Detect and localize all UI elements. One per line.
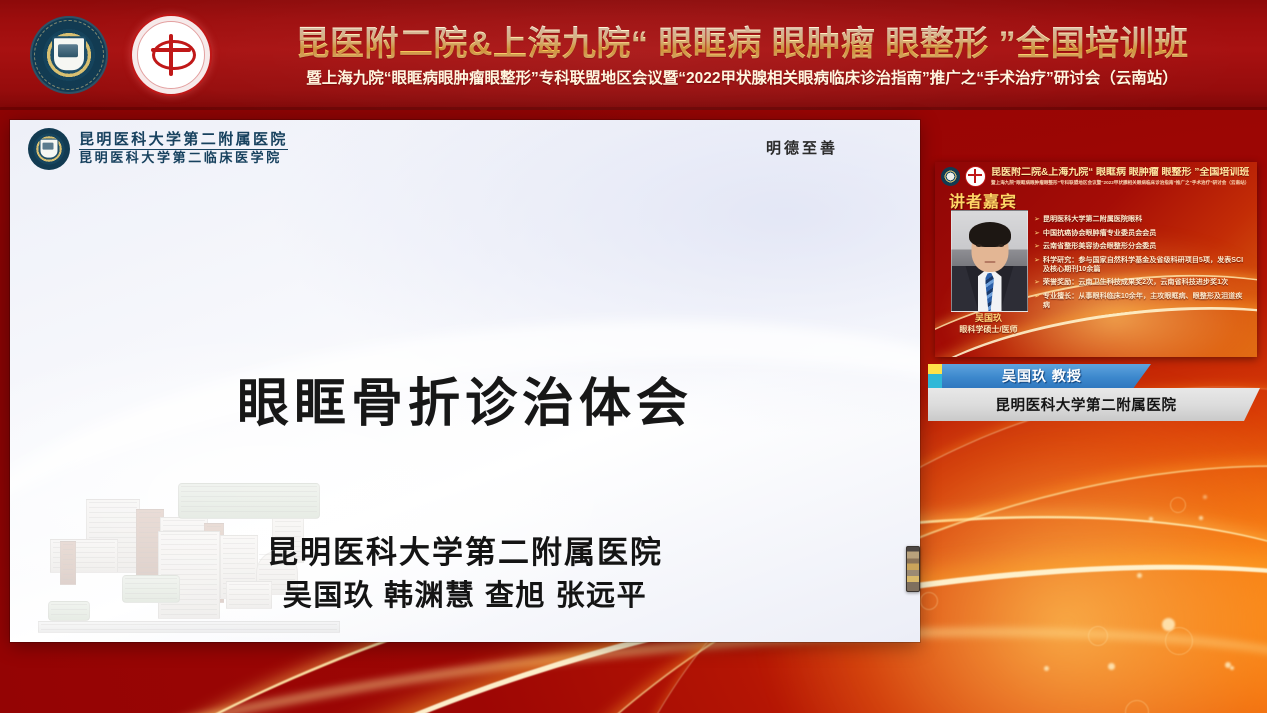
emblem-cross-vertical bbox=[169, 34, 173, 76]
slide-viewport[interactable]: 昆明医科大学第二附属医院 昆明医科大学第二临床医学院 明德至善 眼眶骨折诊治体会… bbox=[10, 120, 920, 642]
emblem-cross-horizontal bbox=[151, 48, 191, 52]
emblem-shield bbox=[52, 36, 86, 72]
university-crest-icon bbox=[28, 128, 70, 170]
list-item: ➢ 荣誉奖励：云南卫生科技成果奖2次，云南省科技进步奖1次 bbox=[1034, 278, 1249, 288]
header-subtitle: 暨上海九院“眼眶病眼肿瘤眼整形”专科联盟地区会议暨“2022甲状腺相关眼病临床诊… bbox=[232, 66, 1252, 92]
bullet-arrow-icon: ➢ bbox=[1034, 242, 1040, 252]
credential-text: 中国抗癌协会眼肿瘤专业委员会会员 bbox=[1043, 229, 1157, 239]
university-name-line2: 昆明医科大学第二临床医学院 bbox=[79, 151, 288, 167]
list-item: ➢ 中国抗癌协会眼肿瘤专业委员会会员 bbox=[1034, 229, 1249, 239]
bullet-arrow-icon: ➢ bbox=[1034, 292, 1040, 302]
credential-text: 荣誉奖励：云南卫生科技成果奖2次，云南省科技进步奖1次 bbox=[1043, 278, 1228, 288]
bokeh-dot bbox=[1203, 495, 1207, 499]
bullet-arrow-icon: ➢ bbox=[1034, 278, 1040, 288]
list-item: ➢ 科学研究：参与国家自然科学基金及省级科研项目5项，发表SCI及核心期刊10余… bbox=[1034, 256, 1249, 275]
card-header-text: 昆医附二院&上海九院“ 眼眶病 眼肿瘤 眼整形 ”全国培训班 暨上海九院“眼眶病… bbox=[991, 167, 1249, 186]
presentation-stage: 昆医附二院&上海九院“ 眼眶病 眼肿瘤 眼整形 ”全国培训班 暨上海九院“眼眶病… bbox=[0, 0, 1267, 713]
credential-text: 科学研究：参与国家自然科学基金及省级科研项目5项，发表SCI及核心期刊10余篇 bbox=[1043, 256, 1249, 275]
slide-institution-header: 昆明医科大学第二附属医院 昆明医科大学第二临床医学院 bbox=[28, 128, 288, 170]
portrait-mouth bbox=[984, 261, 995, 263]
header-divider bbox=[0, 107, 1267, 110]
slide-title: 眼眶骨折诊治体会 bbox=[10, 373, 920, 435]
emblem-oval bbox=[152, 40, 196, 70]
bokeh-ring bbox=[1088, 626, 1108, 646]
shanghai-ninth-hospital-emblem-icon bbox=[130, 14, 212, 96]
bokeh-dot bbox=[1137, 573, 1142, 578]
list-item: ➢ 云南省整形美容协会眼整形分会委员 bbox=[1034, 242, 1249, 252]
credential-text: 专业擅长：从事眼科临床10余年，主攻眼眶病、眼整形及泪道疾病 bbox=[1043, 292, 1249, 311]
speaker-role: 眼科学硕士/医师 bbox=[941, 325, 1036, 335]
header-title: 昆医附二院&上海九院“ 眼眶病 眼肿瘤 眼整形 ”全国培训班 bbox=[232, 22, 1252, 66]
bokeh-dot bbox=[1108, 663, 1115, 670]
slide-affiliation: 昆明医科大学第二附属医院 bbox=[10, 533, 920, 573]
portrait-eyes bbox=[976, 244, 1004, 247]
tree-cluster bbox=[178, 483, 320, 519]
kunming-medical-university-emblem-icon bbox=[30, 16, 108, 94]
shanghai-ninth-hospital-emblem-icon bbox=[965, 166, 986, 187]
university-name-line1: 昆明医科大学第二附属医院 bbox=[79, 131, 288, 150]
bokeh-dot bbox=[1044, 666, 1049, 671]
slide-authors: 吴国玖 韩渊慧 查旭 张远平 bbox=[10, 576, 920, 616]
speaker-ribbon-label: 吴国玖 教授 bbox=[933, 364, 1151, 388]
credential-text: 云南省整形美容协会眼整形分会委员 bbox=[1043, 242, 1157, 252]
list-item: ➢ 专业擅长：从事眼科临床10余年，主攻眼眶病、眼整形及泪道疾病 bbox=[1034, 292, 1249, 311]
bokeh-dot bbox=[1199, 516, 1203, 520]
bokeh-ring bbox=[920, 592, 938, 610]
card-header-title: 昆医附二院&上海九院“ 眼眶病 眼肿瘤 眼整形 ”全国培训班 bbox=[991, 167, 1249, 179]
speaker-portrait bbox=[951, 210, 1028, 312]
speaker-info-card: 昆医附二院&上海九院“ 眼眶病 眼肿瘤 眼整形 ”全国培训班 暨上海九院“眼眶病… bbox=[935, 162, 1257, 357]
speaker-section-label: 讲者嘉宾 bbox=[949, 188, 1017, 212]
organization-label: 昆明医科大学第二附属医院 bbox=[928, 388, 1244, 421]
bullet-arrow-icon: ➢ bbox=[1034, 215, 1040, 225]
speaker-name-ribbon: 昆明医科大学第二附属医院 吴国玖 教授 bbox=[928, 364, 1260, 422]
kunming-medical-university-emblem-icon bbox=[941, 167, 960, 186]
speaker-name: 吴国玖 bbox=[951, 313, 1026, 324]
slide-university-names: 昆明医科大学第二附属医院 昆明医科大学第二临床医学院 bbox=[79, 131, 288, 167]
bokeh-ring bbox=[1170, 497, 1186, 513]
crest-shield bbox=[40, 139, 59, 159]
card-header: 昆医附二院&上海九院“ 眼眶病 眼肿瘤 眼整形 ”全国培训班 暨上海九院“眼眶病… bbox=[941, 165, 1251, 188]
bokeh-ring bbox=[1165, 627, 1193, 655]
road-strip bbox=[38, 621, 340, 633]
slide-motto: 明德至善 bbox=[766, 137, 838, 158]
slide-scroll-thumb[interactable] bbox=[906, 546, 920, 592]
bokeh-dot bbox=[1230, 666, 1234, 670]
credential-text: 昆明医科大学第二附属医院眼科 bbox=[1043, 215, 1142, 225]
header-text-block: 昆医附二院&上海九院“ 眼眶病 眼肿瘤 眼整形 ”全国培训班 暨上海九院“眼眶病… bbox=[232, 22, 1252, 92]
bullet-arrow-icon: ➢ bbox=[1034, 256, 1040, 266]
speaker-credentials-list: ➢ 昆明医科大学第二附属医院眼科 ➢ 中国抗癌协会眼肿瘤专业委员会会员 ➢ 云南… bbox=[1034, 215, 1249, 311]
event-header-banner: 昆医附二院&上海九院“ 眼眶病 眼肿瘤 眼整形 ”全国培训班 暨上海九院“眼眶病… bbox=[0, 0, 1267, 110]
medical-cross-icon bbox=[148, 32, 194, 78]
list-item: ➢ 昆明医科大学第二附属医院眼科 bbox=[1034, 215, 1249, 225]
card-header-subtitle: 暨上海九院“眼眶病眼肿瘤眼整形”专科联盟地区会议暨“2022甲状腺相关眼病临床诊… bbox=[991, 179, 1249, 186]
header-emblems bbox=[30, 14, 212, 96]
bokeh-dot bbox=[1149, 517, 1153, 521]
bullet-arrow-icon: ➢ bbox=[1034, 229, 1040, 239]
